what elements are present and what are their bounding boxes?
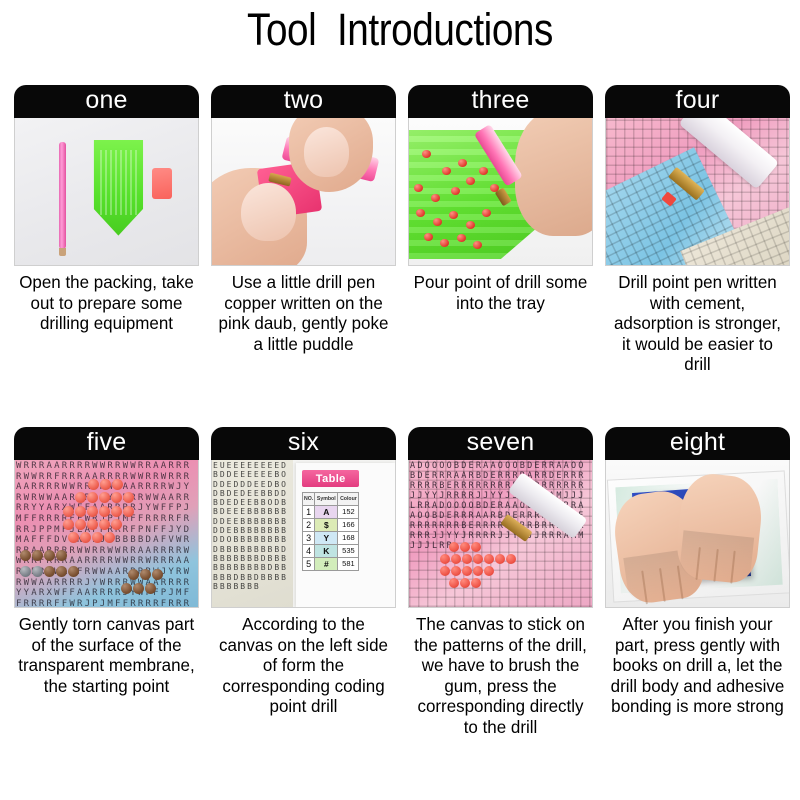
cell-symbol: $: [315, 518, 338, 531]
cell-symbol: K: [315, 544, 338, 557]
step-label-five: five: [87, 430, 127, 455]
pen-tray-wax-photo: [14, 118, 199, 266]
printed-canvas-icon: EUEEEEEEEEDBDDEEEEEEBODDEDDDEEDBODBDEDEE…: [212, 460, 293, 607]
step-caption-five: Gently torn canvas part of the surface o…: [17, 614, 196, 696]
right-hand-icon: [674, 471, 765, 585]
drills-in-tray-photo: [408, 118, 593, 266]
canvas-symbol-grid: EUEEEEEEEEDBDDEEEEEEBODDEDDDEEDBODBDEDEE…: [212, 460, 293, 607]
step-card-seven[interactable]: seven ADOOOOBDERAAOOOBDERRAAOOBDERRRAARB…: [408, 427, 593, 737]
pink-drill-pen-icon: [59, 142, 66, 249]
cell-symbol: Y: [315, 531, 338, 544]
pen-into-wax-photo: [211, 118, 396, 266]
step-card-one[interactable]: one Open the packing, take out to prepar…: [14, 85, 199, 375]
page-title: Tool Introductions: [56, 4, 744, 56]
cell-colour: 166: [338, 518, 359, 531]
table-row: 2 $ 166: [303, 518, 359, 531]
step-label-seven: seven: [467, 430, 535, 455]
step-header-seven: seven: [408, 427, 593, 460]
step-card-eight[interactable]: eight: [605, 427, 790, 737]
green-tray-icon: [94, 140, 143, 236]
fingernail-icon: [304, 127, 350, 177]
colour-code-table: NO. Symbol Colour 1 A 152: [302, 492, 359, 571]
placing-drills-photo: ADOOOOBDERAAOOOBDERRAAOOBDERRRAARBDERRRR…: [408, 460, 593, 608]
step-label-one: one: [85, 88, 127, 113]
table-title: Table: [302, 470, 359, 487]
step-header-six: six: [211, 427, 396, 460]
cell-no: 4: [303, 544, 315, 557]
step-label-four: four: [676, 88, 720, 113]
step-header-two: two: [211, 85, 396, 118]
step-label-six: six: [288, 430, 319, 455]
step-card-three[interactable]: three: [408, 85, 593, 375]
step-caption-two: Use a little drill pen copper written on…: [214, 272, 393, 354]
pink-wax-icon: [152, 168, 172, 199]
step-card-five[interactable]: five WRRRAARRRRWWRRWWRRAARRRRWWRRFRRRAAR…: [14, 427, 199, 737]
step-label-two: two: [284, 88, 324, 113]
fingernail-icon: [241, 183, 296, 242]
column-no: NO.: [303, 492, 315, 505]
step-header-four: four: [605, 85, 790, 118]
column-symbol: Symbol: [315, 492, 338, 505]
table-row: 3 Y 168: [303, 531, 359, 544]
step-caption-eight: After you finish your part, press gently…: [608, 614, 787, 717]
cell-no: 1: [303, 505, 315, 518]
finger-icon: [515, 118, 593, 236]
cell-symbol: A: [315, 505, 338, 518]
steps-row-1: one Open the packing, take out to prepar…: [0, 85, 800, 375]
step-caption-one: Open the packing, take out to prepare so…: [17, 272, 196, 334]
step-header-five: five: [14, 427, 199, 460]
step-caption-seven: The canvas to stick on the patterns of t…: [411, 614, 590, 737]
step-card-two[interactable]: two Use a little drill pen copper writte…: [211, 85, 396, 375]
colour-chart-sheet: Table NO. Symbol Colour: [296, 463, 395, 607]
table-header-row: NO. Symbol Colour: [303, 492, 359, 505]
symbol-chart-photo: EUEEEEEEEEDBDDEEEEEEBODDEDDDEEDBODBDEDEE…: [211, 460, 396, 608]
infographic-page: Tool Introductions one Open the packing,…: [0, 0, 800, 800]
step-caption-three: Pour point of drill some into the tray: [411, 272, 590, 313]
cell-no: 3: [303, 531, 315, 544]
cell-colour: 535: [338, 544, 359, 557]
cell-symbol: #: [315, 557, 338, 570]
column-colour: Colour: [338, 492, 359, 505]
pen-tip-on-canvas-photo: [605, 118, 790, 266]
cell-colour: 581: [338, 557, 359, 570]
step-card-six[interactable]: six EUEEEEEEEEDBDDEEEEEEBODDEDDDEEDBODBD…: [211, 427, 396, 737]
step-caption-four: Drill point pen written with cement, ads…: [608, 272, 787, 375]
steps-row-2: five WRRRAARRRRWWRRWWRRAARRRRWWRRFRRRAAR…: [0, 427, 800, 737]
table-row: 1 A 152: [303, 505, 359, 518]
step-caption-six: According to the canvas on the left side…: [214, 614, 393, 717]
cell-colour: 168: [338, 531, 359, 544]
step-header-three: three: [408, 85, 593, 118]
cell-no: 2: [303, 518, 315, 531]
cell-no: 5: [303, 557, 315, 570]
step-label-three: three: [472, 88, 530, 113]
pressing-with-book-photo: [605, 460, 790, 608]
cell-colour: 152: [338, 505, 359, 518]
step-card-four[interactable]: four Drill point pen written with cement…: [605, 85, 790, 375]
table-row: 5 # 581: [303, 557, 359, 570]
step-label-eight: eight: [670, 430, 725, 455]
step-header-one: one: [14, 85, 199, 118]
table-row: 4 K 535: [303, 544, 359, 557]
canvas-symbol-grid: ADOOOOBDERAAOOOBDERRAAOOBDERRRAARBDERRRR…: [409, 460, 592, 607]
peeled-canvas-photo: WRRRAARRRRWWRRWWRRAARRRRWWRRFRRRAARRRRWW…: [14, 460, 199, 608]
step-header-eight: eight: [605, 427, 790, 460]
